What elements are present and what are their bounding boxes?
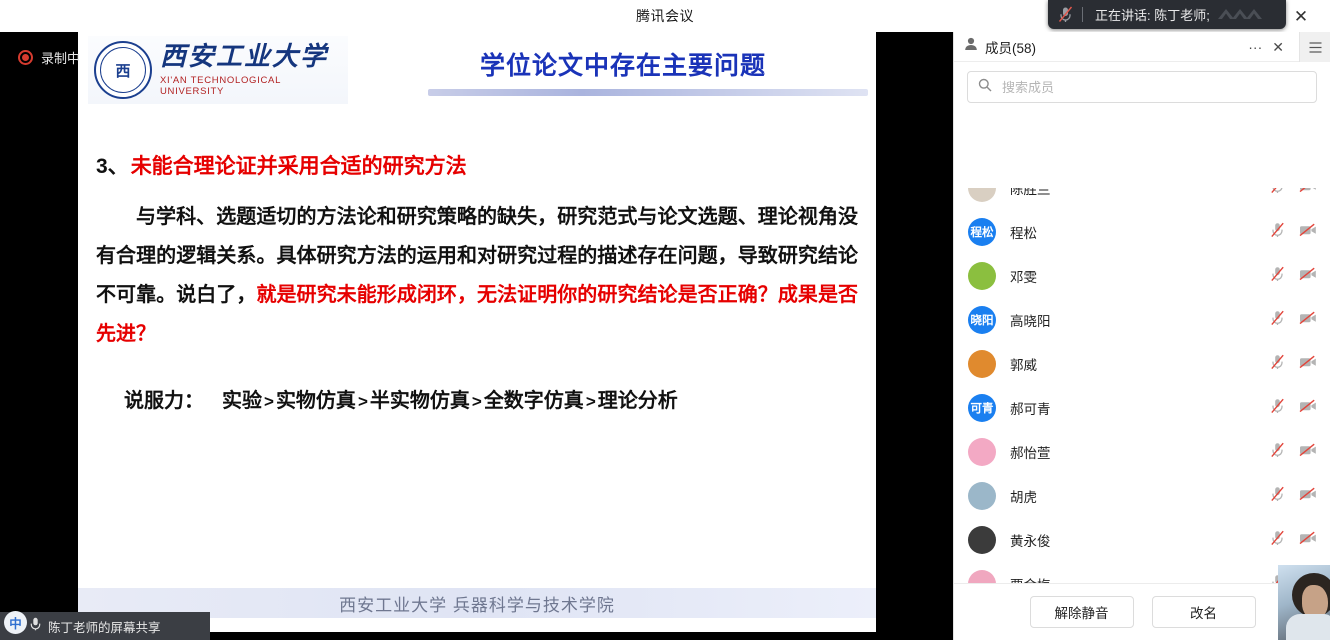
title-underline-bar <box>428 89 868 96</box>
search-icon <box>978 78 992 97</box>
share-status-text: 陈丁老师的屏幕共享 <box>48 617 161 636</box>
camera-off-icon[interactable] <box>1299 487 1317 506</box>
mic-muted-icon[interactable] <box>1270 442 1285 463</box>
participant-status-icons <box>1270 430 1317 474</box>
chain-separator-1: > <box>356 392 370 411</box>
university-logo-text: 西安工业大学 XI'AN TECHNOLOGICAL UNIVERSITY <box>160 43 348 98</box>
participant-status-icons <box>1270 298 1317 342</box>
search-input[interactable] <box>1000 79 1306 96</box>
recording-indicator: 录制中 <box>18 48 80 67</box>
seal-text: 西 <box>115 60 130 81</box>
chain-item-1: 实物仿真 <box>276 390 356 412</box>
avatar <box>968 438 996 466</box>
participant-row[interactable]: 胡虎 <box>954 474 1330 518</box>
avatar <box>968 526 996 554</box>
shared-screen-stage: 录制中 西 西安工业大学 XI'AN TECHNOLOGICAL UNIVERS… <box>0 32 953 640</box>
participant-name: 胡虎 <box>1010 486 1037 506</box>
mic-muted-icon[interactable] <box>1270 266 1285 287</box>
camera-off-icon[interactable] <box>1299 267 1317 286</box>
active-speaker-banner[interactable]: 正在讲话: 陈丁老师; <box>1048 0 1286 29</box>
chain-separator-2: > <box>470 392 484 411</box>
rename-button[interactable]: 改名 <box>1152 596 1256 628</box>
participant-row[interactable]: 陈胜兰 <box>954 188 1330 210</box>
participants-search-wrapper <box>954 62 1330 110</box>
avatar: 晓阳 <box>968 306 996 334</box>
participant-row[interactable]: 程松程松 <box>954 210 1330 254</box>
chain-item-0: 实验 <box>222 390 262 412</box>
mic-muted-icon <box>1048 0 1082 29</box>
slide-footer-text: 西安工业大学 兵器科学与技术学院 <box>339 591 615 616</box>
participant-row[interactable]: 晓阳高晓阳 <box>954 298 1330 342</box>
presentation-slide: 西 西安工业大学 XI'AN TECHNOLOGICAL UNIVERSITY … <box>78 32 876 632</box>
self-view-thumbnail[interactable] <box>1278 565 1330 640</box>
participants-search-box[interactable] <box>967 71 1317 103</box>
hamburger-menu-icon[interactable] <box>1299 32 1330 62</box>
participant-status-icons <box>1270 386 1317 430</box>
window-close-button[interactable]: ✕ <box>1280 0 1322 32</box>
participants-list[interactable]: 陈胜兰程松程松邓雯晓阳高晓阳郭威可青郝可青郝怡萱胡虎黄永俊贾金梅靳极升 <box>954 188 1330 640</box>
window-title: 腾讯会议 <box>636 6 694 26</box>
person-icon <box>964 37 978 56</box>
share-status-bar: 陈丁老师的屏幕共享 <box>0 612 210 640</box>
mic-icon <box>30 617 41 636</box>
participant-row[interactable]: 郭威 <box>954 342 1330 386</box>
university-name-en: XI'AN TECHNOLOGICAL UNIVERSITY <box>160 75 348 97</box>
recording-label: 录制中 <box>41 48 80 67</box>
camera-off-icon[interactable] <box>1299 531 1317 550</box>
camera-off-icon[interactable] <box>1299 223 1317 242</box>
participants-panel-header: 成员(58) ··· ✕ <box>954 32 1330 62</box>
slide-body: 3、 未能合理论证并采用合适的研究方法 与学科、选题适切的方法论和研究策略的缺失… <box>78 112 876 602</box>
tencent-meeting-window: 腾讯会议 ✕ 正在讲话: 陈丁老师; 录制中 <box>0 0 1330 640</box>
participant-name: 陈胜兰 <box>1010 188 1051 198</box>
chain-item-3: 全数字仿真 <box>484 390 584 412</box>
participant-row[interactable]: 郝怡萱 <box>954 430 1330 474</box>
participant-status-icons <box>1270 210 1317 254</box>
persuasiveness-chain: 说服力：实验>实物仿真>半实物仿真>全数字仿真>理论分析 <box>96 384 858 413</box>
chain-item-2: 半实物仿真 <box>370 390 470 412</box>
participants-panel: 成员(58) ··· ✕ <box>953 32 1330 640</box>
participant-name: 邓雯 <box>1010 266 1037 286</box>
speaking-now-text: 正在讲话: 陈丁老师; <box>1083 5 1210 24</box>
mic-muted-icon[interactable] <box>1270 188 1285 199</box>
participant-name: 郝怡萱 <box>1010 442 1051 462</box>
university-seal-icon: 西 <box>94 41 152 99</box>
slide-header: 西 西安工业大学 XI'AN TECHNOLOGICAL UNIVERSITY … <box>78 32 876 108</box>
participant-name: 黄永俊 <box>1010 530 1051 550</box>
ime-indicator-badge[interactable]: 中 <box>4 611 27 634</box>
participant-name: 高晓阳 <box>1010 310 1051 330</box>
camera-off-icon[interactable] <box>1299 399 1317 418</box>
mic-muted-icon[interactable] <box>1270 354 1285 375</box>
participant-status-icons <box>1270 474 1317 518</box>
university-logo: 西 西安工业大学 XI'AN TECHNOLOGICAL UNIVERSITY <box>88 36 348 104</box>
participant-row[interactable]: 可青郝可青 <box>954 386 1330 430</box>
slide-title: 学位论文中存在主要问题 <box>378 46 868 82</box>
more-options-icon[interactable]: ··· <box>1248 40 1262 54</box>
slide-paragraph: 与学科、选题适切的方法论和研究策略的缺失，研究范式与论文选题、理论视角没有合理的… <box>96 198 858 354</box>
participant-name: 郝可青 <box>1010 398 1051 418</box>
avatar <box>968 482 996 510</box>
avatar <box>968 350 996 378</box>
recording-dot-icon <box>18 50 33 65</box>
participant-status-icons <box>1270 188 1317 210</box>
participant-status-icons <box>1270 254 1317 298</box>
camera-off-icon[interactable] <box>1299 188 1317 198</box>
close-panel-icon[interactable]: ✕ <box>1272 40 1284 54</box>
mic-muted-icon[interactable] <box>1270 486 1285 507</box>
bullet-heading-text: 未能合理论证并采用合适的研究方法 <box>131 150 467 180</box>
avatar: 可青 <box>968 394 996 422</box>
mic-muted-icon[interactable] <box>1270 398 1285 419</box>
camera-off-icon[interactable] <box>1299 443 1317 462</box>
mic-muted-icon[interactable] <box>1270 530 1285 551</box>
chain-separator-3: > <box>584 392 598 411</box>
tencent-meeting-logo-icon <box>1214 2 1280 27</box>
participant-status-icons <box>1270 518 1317 562</box>
participant-name: 程松 <box>1010 222 1037 242</box>
camera-off-icon[interactable] <box>1299 355 1317 374</box>
persuasiveness-label: 说服力： <box>124 390 204 412</box>
participants-panel-title: 成员(58) <box>985 37 1036 57</box>
self-view-body <box>1286 614 1330 640</box>
participant-name: 郭威 <box>1010 354 1037 374</box>
chain-item-4: 理论分析 <box>598 390 678 412</box>
camera-off-icon[interactable] <box>1299 311 1317 330</box>
chain-separator-0: > <box>262 392 276 411</box>
participants-list-inner: 陈胜兰程松程松邓雯晓阳高晓阳郭威可青郝可青郝怡萱胡虎黄永俊贾金梅靳极升 <box>954 188 1330 640</box>
avatar: 程松 <box>968 218 996 246</box>
panel-header-actions: ··· ✕ <box>1248 32 1284 62</box>
slide-bullet-heading: 3、 未能合理论证并采用合适的研究方法 <box>96 150 858 180</box>
participants-panel-footer: 解除静音 改名 <box>954 583 1330 640</box>
participant-row[interactable]: 黄永俊 <box>954 518 1330 562</box>
avatar <box>968 262 996 290</box>
university-name-cn: 西安工业大学 <box>160 43 348 72</box>
avatar <box>968 188 996 202</box>
participant-status-icons <box>1270 342 1317 386</box>
unmute-button[interactable]: 解除静音 <box>1030 596 1134 628</box>
mic-muted-icon[interactable] <box>1270 222 1285 243</box>
participant-row[interactable]: 邓雯 <box>954 254 1330 298</box>
mic-muted-icon[interactable] <box>1270 310 1285 331</box>
bullet-number: 3、 <box>96 150 129 180</box>
